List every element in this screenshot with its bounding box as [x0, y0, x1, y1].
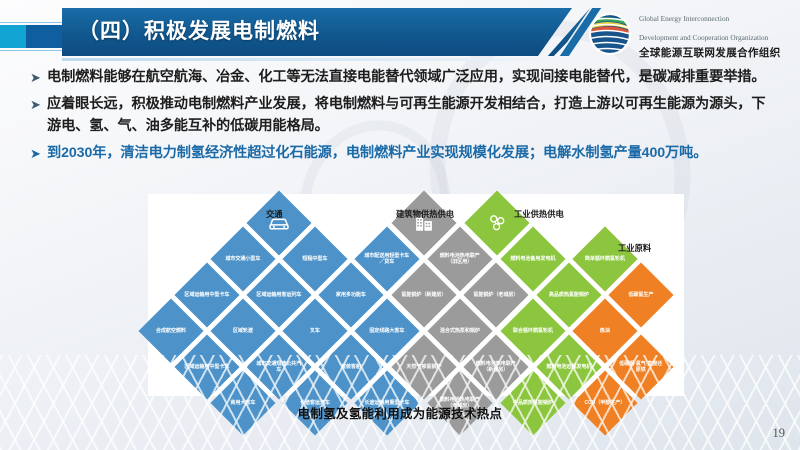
tile-label: 燃料电池远程发电机	[546, 364, 592, 370]
tile-label: 叉车	[292, 328, 338, 334]
tile-label: 炼油	[582, 328, 628, 334]
tile-label: 混合式热泵和锅炉	[437, 328, 483, 334]
tile-label: 家用多功能车	[328, 292, 374, 298]
tile-label: 城市交通小型车	[220, 256, 266, 262]
diagram-panel: 城市交通小型车 短程中型车 区域运输用中型卡车 区域运输用客运列车 家用多功能车…	[148, 194, 684, 396]
tile-label: 燃料电池备用发电机	[510, 256, 556, 262]
tile-label: 低碳钢-氢气-直接还原铁	[618, 361, 664, 374]
bullet-item-2: ➤ 应着眼长远，积极推动电制燃料产业发展，将电制燃料与可再生能源开发相结合，打造…	[30, 93, 778, 137]
globe-icon	[588, 12, 632, 56]
tile-label: 高品质热氢能锅炉	[546, 292, 592, 298]
logo-english-line1: Global Energy Interconnection	[639, 14, 729, 23]
category-label-transport: 交通	[266, 208, 283, 220]
diamond-matrix: 城市交通小型车 短程中型车 区域运输用中型卡车 区域运输用客运列车 家用多功能车…	[148, 194, 684, 396]
tile-label: 城市配送用轻型卡车／货车	[364, 253, 410, 266]
tile-label: 简单循环燃氢轮机	[582, 256, 628, 262]
tile-label: 固定线路大客车	[364, 328, 410, 334]
bullet-text-2: 应着眼长远，积极推动电制燃料产业发展，将电制燃料与可再生能源开发相结合，打造上游…	[47, 93, 778, 137]
diagram-caption: 电制氢及氢能利用成为能源技术热点	[0, 404, 800, 422]
logo-english-line2: Development and Cooperation Organization	[639, 33, 768, 42]
bullet-item-3: ➤ 到2030年，清洁电力制氢经济性超过化石能源，电制燃料产业实现规模化发展；电…	[30, 142, 778, 164]
tile-label: 燃料电池热电联产（旧区用）	[437, 253, 483, 266]
bullet-text-3: 到2030年，清洁电力制氢经济性超过化石能源，电制燃料产业实现规模化发展；电解水…	[47, 142, 707, 164]
tile-label: 城市交通短途公共汽车	[256, 361, 302, 374]
header-underline	[62, 58, 567, 61]
tile-label: 区域轮渡	[220, 328, 266, 334]
page-title: （四）积极发展电制燃料	[78, 12, 320, 52]
tile-label: 区域运输用客运列车	[256, 292, 302, 298]
category-label-building: 建筑物供热供电	[396, 208, 454, 220]
tile-label: 天然气掺氢锅炉	[401, 364, 447, 370]
tile-label: 低碳氢生产	[618, 292, 664, 298]
bullet-marker-icon: ➤	[30, 93, 47, 137]
tile-label: 氢能锅炉（老城房）	[473, 292, 519, 298]
tile-label: 燃料电池热电联产（新建房）	[473, 361, 519, 374]
tile-label: 合成航空燃料	[148, 328, 194, 334]
logo-chinese-name: 全球能源互联网发展合作组织	[639, 47, 781, 59]
tile-label: 联合循环燃氢轮机	[510, 328, 556, 334]
tile-label: 渡装客船	[328, 364, 374, 370]
tile-label: 区域运输用中型卡车	[184, 364, 230, 370]
slide-canvas: （四）积极发展电制燃料	[0, 0, 800, 450]
organization-logo: Global Energy Interconnection Developmen…	[588, 8, 781, 59]
category-label-raw-material: 工业原料	[618, 242, 651, 254]
bullet-text-1: 电制燃料能够在航空航海、冶金、化工等无法直接电能替代领域广泛应用，实现间接电能替…	[47, 66, 765, 88]
tile-label: 氢能锅炉（新建房）	[401, 292, 447, 298]
category-label-industry-heat: 工业供热供电	[514, 208, 564, 220]
bullet-list: ➤ 电制燃料能够在航空航海、冶金、化工等无法直接电能替代领域广泛应用，实现间接电…	[30, 66, 778, 169]
tile-label: 区域运输用中型卡车	[184, 292, 230, 298]
bullet-item-1: ➤ 电制燃料能够在航空航海、冶金、化工等无法直接电能替代领域广泛应用，实现间接电…	[30, 66, 778, 88]
slide-header: （四）积极发展电制燃料	[0, 0, 800, 64]
tile-label: 短程中型车	[292, 256, 338, 262]
bullet-marker-icon: ➤	[30, 142, 47, 164]
page-number: 19	[773, 426, 786, 441]
bullet-marker-icon: ➤	[30, 66, 47, 88]
